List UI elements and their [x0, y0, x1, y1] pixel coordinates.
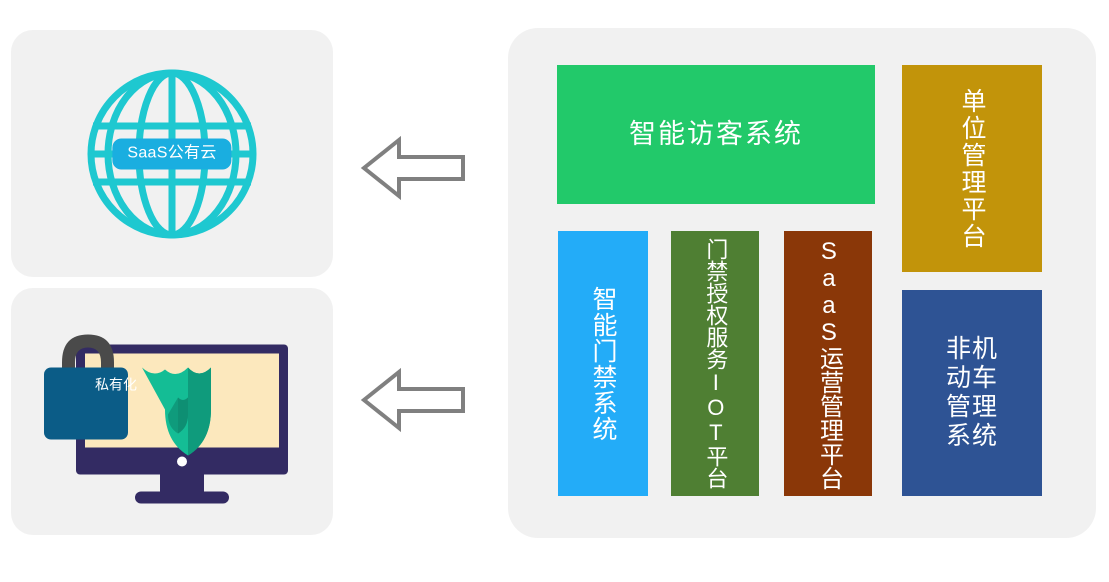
arrow-left-to-private [358, 367, 470, 433]
box-intelligent-visitor-system[interactable]: 智能访客系统 [557, 65, 875, 204]
diagram-canvas: SaaS公有云 [0, 0, 1109, 582]
panel-systems-group: 智能访客系统 单位管理平台 智能门禁系统 门禁授权服务IOT平台 SaaS运营管… [508, 28, 1096, 538]
box-access-authorization-iot-platform[interactable]: 门禁授权服务IOT平台 [671, 231, 759, 496]
box-bike-label: 非机动车管理系统 [942, 335, 1002, 451]
box-non-motor-vehicle-management-system[interactable]: 非机动车管理系统 [902, 290, 1042, 496]
arrow-left-to-cloud [358, 135, 470, 201]
saas-public-cloud-label: SaaS公有云 [112, 138, 231, 169]
panel-saas-public-cloud[interactable]: SaaS公有云 [11, 30, 333, 277]
panel-private-deployment[interactable]: 私有化 [11, 288, 333, 535]
box-intelligent-access-control-system[interactable]: 智能门禁系统 [558, 231, 648, 496]
box-saas-operation-management-platform[interactable]: SaaS运营管理平台 [784, 231, 872, 496]
monitor-shield-lock-icon: 私有化 [32, 304, 312, 519]
box-unit-management-platform[interactable]: 单位管理平台 [902, 65, 1042, 272]
globe-icon: SaaS公有云 [82, 64, 262, 244]
